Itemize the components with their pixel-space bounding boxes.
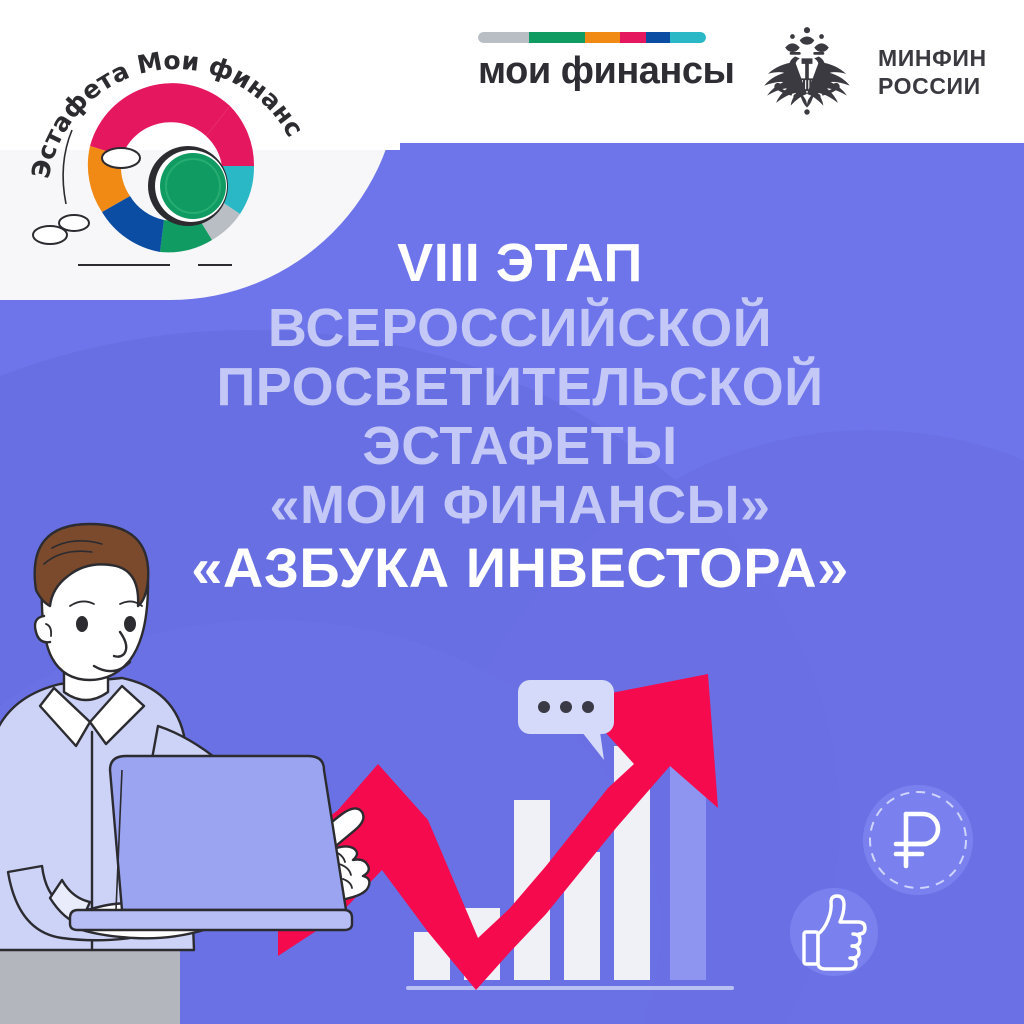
thumbs-up-icon bbox=[782, 880, 886, 984]
minfin-label: МИНФИН РОССИИ bbox=[878, 44, 987, 100]
color-bar-segment-orange bbox=[585, 32, 620, 43]
bubble-dot-2 bbox=[560, 701, 572, 713]
brand-my-finances: мои финансы bbox=[478, 32, 710, 90]
bubble-dot-1 bbox=[538, 701, 550, 713]
title-line-4: «МОИ ФИНАНСЫ» bbox=[150, 478, 890, 533]
color-bar-segment-green bbox=[529, 32, 585, 43]
color-bar-segment-gray bbox=[478, 32, 529, 43]
double-headed-eagle-icon bbox=[752, 22, 862, 122]
speech-bubble-icon bbox=[516, 678, 624, 768]
color-bar-segment-teal bbox=[670, 32, 706, 43]
title-line-2: ПРОСВЕТИТЕЛЬСКОЙ bbox=[150, 360, 890, 415]
title-stage: VIII ЭТАП bbox=[150, 236, 890, 291]
title-line-5: «АЗБУКА ИНВЕСТОРА» bbox=[150, 539, 890, 596]
donut-center-disc bbox=[160, 153, 226, 219]
color-bar-icon bbox=[478, 32, 706, 43]
color-bar-segment-pink bbox=[620, 32, 646, 43]
title-line-1: ВСЕРОССИЙСКОЙ bbox=[150, 301, 890, 356]
brand-minfin-russia: МИНФИН РОССИИ bbox=[752, 22, 987, 122]
title-block: VIII ЭТАП ВСЕРОССИЙСКОЙ ПРОСВЕТИТЕЛЬСКОЙ… bbox=[150, 236, 890, 601]
color-bar-segment-blue bbox=[646, 32, 670, 43]
title-line-3: ЭСТАФЕТЫ bbox=[150, 419, 890, 474]
bubble-dot-3 bbox=[582, 701, 594, 713]
donut-segment-pink bbox=[90, 83, 230, 156]
brand-wordmark: мои финансы bbox=[478, 52, 710, 90]
poster-canvas: мои финансы bbox=[0, 0, 1024, 1024]
